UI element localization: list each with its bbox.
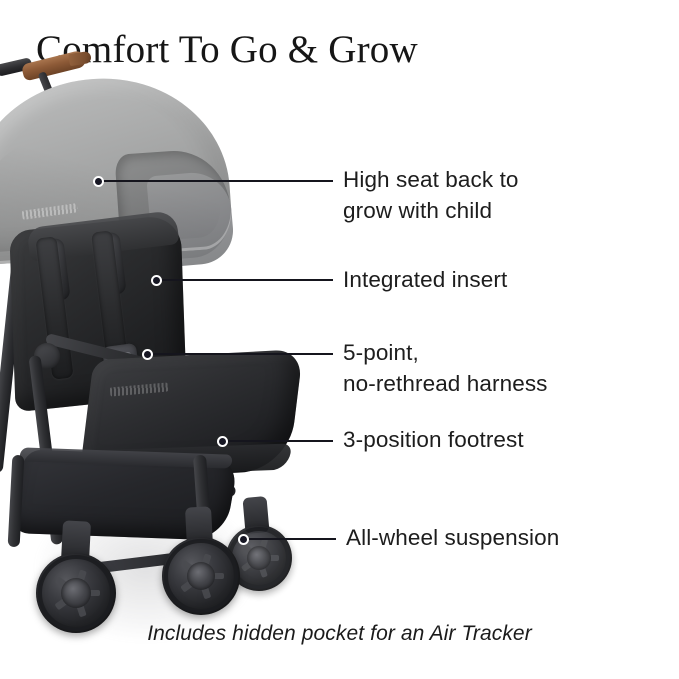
callout-line-1: All-wheel suspension: [346, 522, 559, 553]
callout-line-1: Integrated insert: [343, 264, 507, 295]
wheel-hub: [247, 546, 271, 570]
callout-line-2: no-rethread harness: [343, 368, 548, 399]
leader-line: [147, 353, 333, 355]
callout-five-point-harness: 5-point, no-rethread harness: [343, 337, 548, 399]
stroller-product-image: [0, 55, 330, 630]
callout-all-wheel-suspension: All-wheel suspension: [346, 522, 559, 553]
bottom-caption: Includes hidden pocket for an Air Tracke…: [0, 622, 679, 646]
leader-dot: [151, 275, 162, 286]
leader-dot: [217, 436, 228, 447]
callout-line-1: 5-point,: [343, 337, 548, 368]
leader-line: [156, 279, 333, 281]
infographic-canvas: Comfort To Go & Grow: [0, 0, 679, 679]
leader-dot: [142, 349, 153, 360]
callout-integrated-insert: Integrated insert: [343, 264, 507, 295]
leather-handle-grip: [21, 50, 87, 82]
wheel-front: [162, 537, 240, 615]
leader-dot: [93, 176, 104, 187]
leader-line: [98, 180, 333, 182]
callout-three-position-footrest: 3-position footrest: [343, 424, 524, 455]
wheel-hub: [187, 562, 215, 590]
wheel-hub: [61, 578, 91, 608]
leader-line: [222, 440, 333, 442]
leader-dot: [238, 534, 249, 545]
callout-high-seat-back: High seat back to grow with child: [343, 164, 519, 226]
leader-line: [248, 538, 336, 540]
callout-line-1: 3-position footrest: [343, 424, 524, 455]
callout-line-1: High seat back to: [343, 164, 519, 195]
wheel-rear: [36, 553, 116, 633]
callout-line-2: grow with child: [343, 195, 519, 226]
